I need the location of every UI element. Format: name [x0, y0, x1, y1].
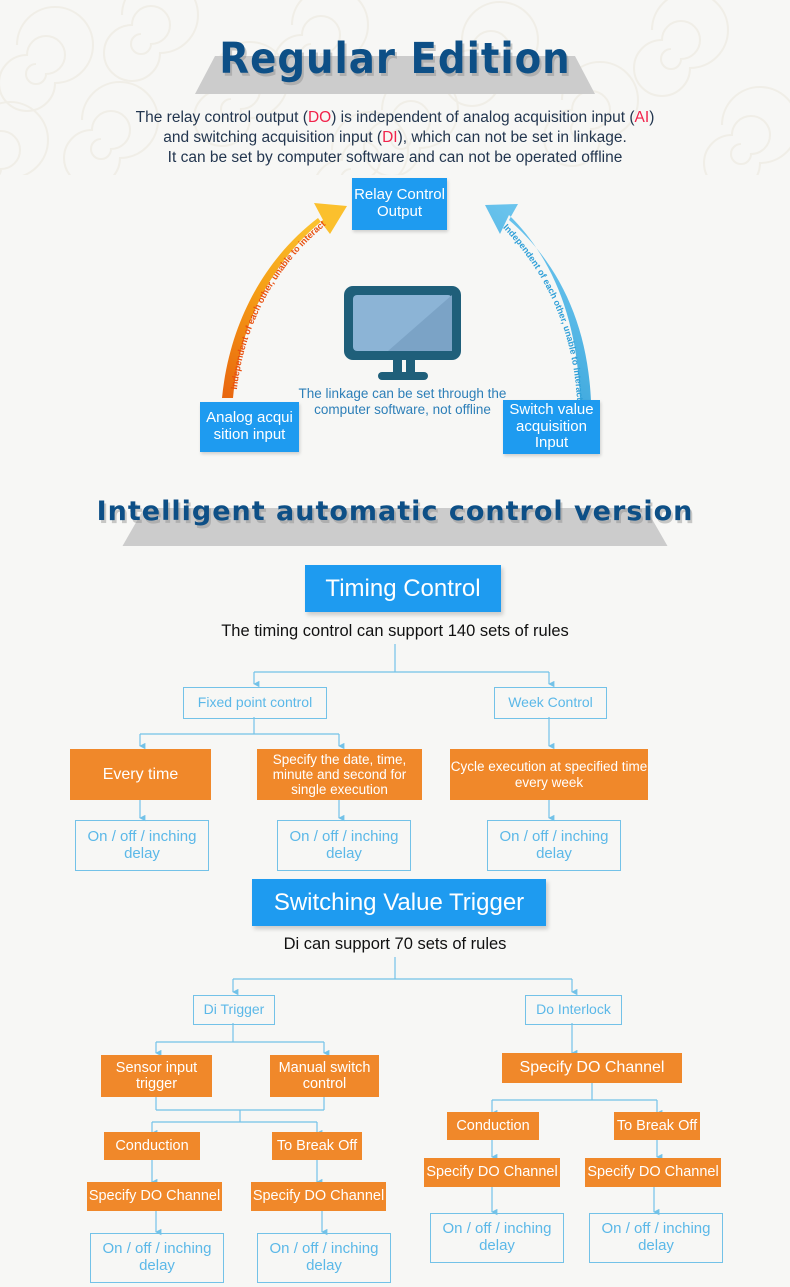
every-time-box[interactable]: Every time [70, 749, 211, 800]
manual-switch-control-box[interactable]: Manual switch control [270, 1055, 379, 1097]
di-specify-do-channel-left[interactable]: Specify DO Channel [87, 1182, 222, 1211]
intro-paragraph: The relay control output (DO) is indepen… [0, 108, 790, 168]
delay-box-cycle-execution[interactable]: On / off / inching delay [487, 820, 621, 871]
di-trigger-box[interactable]: Di Trigger [193, 995, 275, 1025]
fixed-point-control-box[interactable]: Fixed point control [183, 687, 327, 719]
section-title: Intelligent automatic control version [0, 486, 790, 538]
do-delay-box-right[interactable]: On / off / inching delay [589, 1213, 723, 1263]
di-to-break-off-box[interactable]: To Break Off [272, 1132, 362, 1160]
page-title: Regular Edition [0, 24, 790, 94]
intro-line-1: The relay control output (DO) is indepen… [0, 108, 790, 128]
cycle-execution-box[interactable]: Cycle execution at specified time every … [450, 749, 648, 800]
specify-datetime-box[interactable]: Specify the date, time, minute and secon… [257, 749, 422, 800]
do-delay-box-left[interactable]: On / off / inching delay [430, 1213, 564, 1263]
di-delay-box-left[interactable]: On / off / inching delay [90, 1233, 224, 1283]
relay-control-output-box[interactable]: Relay Control Output [352, 178, 447, 230]
ai-label: AI [635, 109, 650, 126]
banner-intelligent-version: Intelligent automatic control version [0, 486, 790, 544]
delay-box-every-time[interactable]: On / off / inching delay [75, 820, 209, 871]
week-control-box[interactable]: Week Control [494, 687, 607, 719]
linkage-note: The linkage can be set through the compu… [285, 386, 520, 418]
banner-regular-edition: Regular Edition [0, 24, 790, 94]
sensor-input-trigger-box[interactable]: Sensor input trigger [101, 1055, 212, 1097]
do-specify-do-channel-left[interactable]: Specify DO Channel [424, 1158, 560, 1187]
do-specify-do-channel-right[interactable]: Specify DO Channel [585, 1158, 721, 1187]
do-specify-channel-box[interactable]: Specify DO Channel [502, 1053, 682, 1083]
delay-box-specify-datetime[interactable]: On / off / inching delay [277, 820, 411, 871]
di-conduction-box[interactable]: Conduction [104, 1132, 200, 1160]
switching-value-note: Di can support 70 sets of rules [0, 935, 790, 954]
di-specify-do-channel-right[interactable]: Specify DO Channel [251, 1182, 386, 1211]
switching-value-trigger-header[interactable]: Switching Value Trigger [252, 879, 546, 926]
do-label: DO [308, 109, 331, 126]
timing-control-header[interactable]: Timing Control [305, 565, 501, 612]
di-delay-box-right[interactable]: On / off / inching delay [257, 1233, 391, 1283]
monitor-icon [340, 283, 465, 381]
do-to-break-off-box[interactable]: To Break Off [614, 1112, 700, 1140]
do-conduction-box[interactable]: Conduction [447, 1112, 539, 1140]
do-interlock-box[interactable]: Do Interlock [525, 995, 622, 1025]
intro-line-2: and switching acquisition input (DI), wh… [0, 128, 790, 148]
timing-control-note: The timing control can support 140 sets … [0, 622, 790, 641]
left-arc-label: Independent of each other, unable to int… [229, 219, 327, 390]
di-label: DI [382, 129, 398, 146]
